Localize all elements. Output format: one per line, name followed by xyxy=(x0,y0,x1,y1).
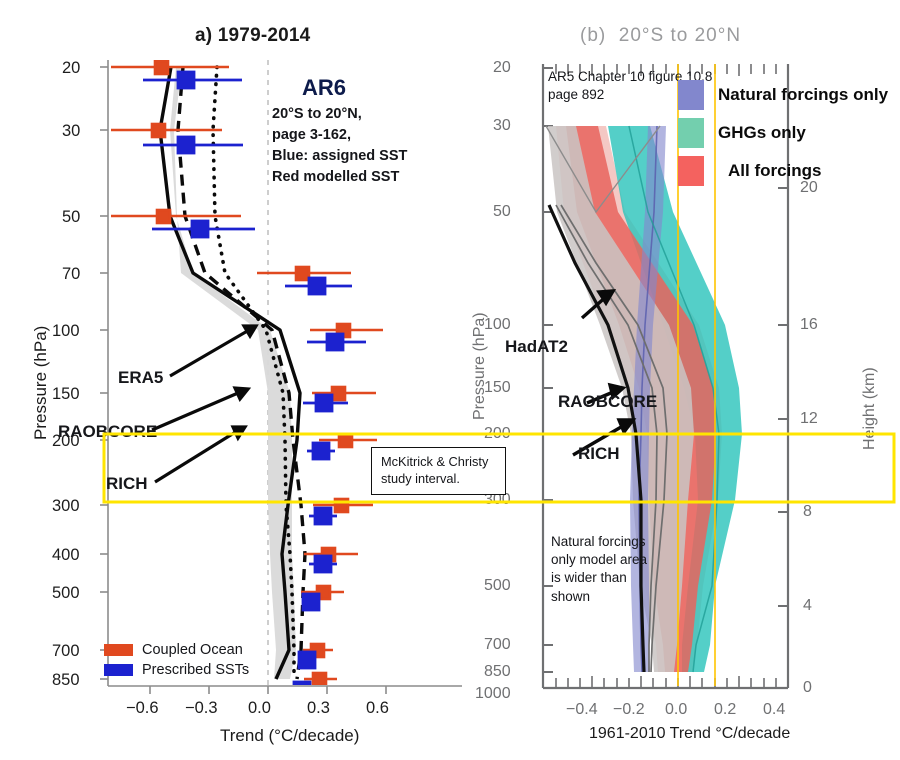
legend-swatch-ghgs-only xyxy=(678,118,704,148)
legend-item-all-forcings: All forcings xyxy=(678,156,888,186)
panel-b-xtick-000: 0.0 xyxy=(665,700,687,720)
panel-b-annotation-raobcore: RAOBCORE xyxy=(558,391,657,412)
panel-b-ytick-50: 50 xyxy=(493,202,511,222)
panel-b-ytick-20: 20 xyxy=(493,58,511,78)
panel-a-annotation-rich: RICH xyxy=(106,473,148,494)
panel-b-legend: Natural forcings only GHGs only All forc… xyxy=(678,80,888,186)
panel-a-y-ticks xyxy=(100,67,108,679)
panel-a-ytick-20: 20 xyxy=(62,58,80,79)
panel-b-height-4: 4 xyxy=(803,596,812,616)
panel-a-annotation-raobcore: RAOBCORE xyxy=(58,421,157,442)
panel-a-ytick-100: 100 xyxy=(52,321,80,342)
legend-label-natural-forcings: Natural forcings only xyxy=(718,85,888,105)
panel-a-ytick-400: 400 xyxy=(52,545,80,566)
panel-b-y-axis-title-right: Height (km) xyxy=(860,367,880,450)
panel-a-xtick-000: 0.0 xyxy=(248,698,271,719)
panel-b-annotation-rich: RICH xyxy=(578,443,620,464)
legend-swatch-prescribed-ssts xyxy=(104,664,133,676)
panel-a-xtick-neg03: −0.3 xyxy=(185,698,218,719)
panel-b-ytick-1000: 1000 xyxy=(475,684,511,704)
legend-item-ghgs-only: GHGs only xyxy=(678,118,888,148)
panel-a-ytick-700: 700 xyxy=(52,641,80,662)
panel-a-xtick-06: 0.6 xyxy=(366,698,389,719)
legend-swatch-natural-forcings xyxy=(678,80,704,110)
panel-a-overlay-note: 20°S to 20°N, page 3-162, Blue: assigned… xyxy=(272,104,407,188)
figure-root: a) 1979-2014 AR6 20°S to 20°N, page 3-16… xyxy=(0,0,900,760)
panel-b-xtick-02: 0.2 xyxy=(714,700,736,720)
panel-a-x-ticks xyxy=(150,686,386,694)
panel-b-annotation-hadat2: HadAT2 xyxy=(505,336,568,357)
panel-a-ytick-30: 30 xyxy=(62,121,80,142)
panel-a-x-axis-title: Trend (°C/decade) xyxy=(220,725,359,746)
panel-b-ytick-200: 200 xyxy=(484,424,511,444)
legend-swatch-coupled-ocean xyxy=(104,644,133,656)
panel-a-title: a) 1979-2014 xyxy=(195,24,310,48)
panel-b-height-ticks xyxy=(778,188,788,688)
panel-b-title: (b) 20°S to 20°N xyxy=(580,24,741,48)
panel-b-bottom-ticks xyxy=(543,676,788,688)
panel-b-height-16: 16 xyxy=(800,315,818,335)
panel-b-height-0: 0 xyxy=(803,678,812,698)
panel-b-ytick-700: 700 xyxy=(484,635,511,655)
panel-a-xtick-neg06: −0.6 xyxy=(126,698,159,719)
panel-a-ytick-50: 50 xyxy=(62,207,80,228)
panel-a-ytick-500: 500 xyxy=(52,583,80,604)
panel-b-x-axis-title: 1961-2010 Trend °C/decade xyxy=(589,724,790,744)
panel-a-overlay-label: AR6 xyxy=(302,74,346,102)
panel-a-annotation-arrows xyxy=(152,326,256,482)
legend-label-all-forcings: All forcings xyxy=(728,161,822,181)
legend-item-natural-forcings: Natural forcings only xyxy=(678,80,888,110)
panel-a-ytick-70: 70 xyxy=(62,264,80,285)
panel-b-xtick-04: 0.4 xyxy=(763,700,785,720)
panel-a-legend: Coupled Ocean Prescribed SSTs xyxy=(104,642,249,678)
panel-b-y-axis-title: Pressure (hPa) xyxy=(470,312,490,420)
panel-b-height-8: 8 xyxy=(803,502,812,522)
legend-label-ghgs-only: GHGs only xyxy=(718,123,806,143)
panel-a-annotation-era5: ERA5 xyxy=(118,367,163,388)
panel-a-xtick-03: 0.3 xyxy=(307,698,330,719)
legend-item-coupled-ocean: Coupled Ocean xyxy=(104,642,249,658)
panel-b-xtick-neg04: −0.4 xyxy=(566,700,598,720)
legend-label-coupled-ocean: Coupled Ocean xyxy=(142,642,243,658)
panel-b-ytick-500: 500 xyxy=(484,576,511,596)
legend-swatch-all-forcings xyxy=(678,156,704,186)
legend-item-prescribed-ssts: Prescribed SSTs xyxy=(104,662,249,678)
panel-a-ytick-150: 150 xyxy=(52,384,80,405)
panel-a-ytick-850: 850 xyxy=(52,670,80,691)
panel-b-xtick-neg02: −0.2 xyxy=(613,700,645,720)
panel-b-footnote: Natural forcings only model area is wide… xyxy=(551,533,647,606)
mckitrick-christy-callout: McKitrick & Christy study interval. xyxy=(371,447,506,495)
legend-label-prescribed-ssts: Prescribed SSTs xyxy=(142,662,249,678)
panel-b-height-12: 12 xyxy=(800,409,818,429)
panel-b-ytick-850: 850 xyxy=(484,662,511,682)
panel-b-ytick-30: 30 xyxy=(493,116,511,136)
panel-a-y-axis-title: Pressure (hPa) xyxy=(30,326,51,440)
panel-a-ytick-300: 300 xyxy=(52,496,80,517)
